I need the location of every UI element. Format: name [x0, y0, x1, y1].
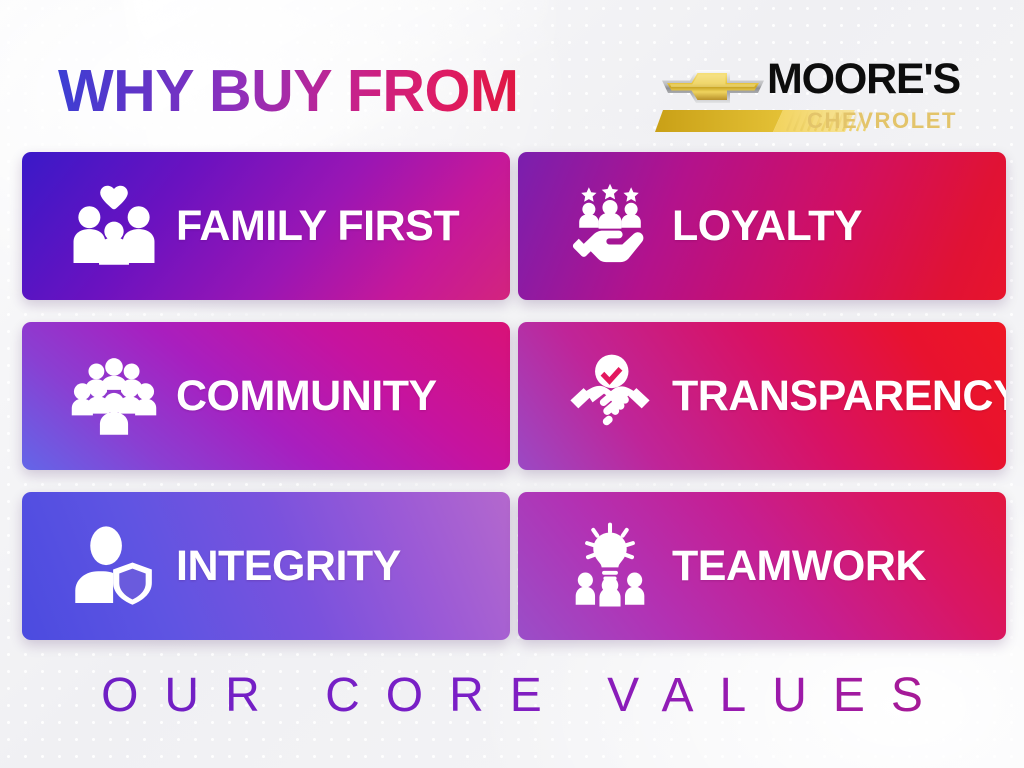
promo-graphic: WHY BUY FROM: [0, 0, 1024, 768]
family-heart-icon: [66, 178, 162, 274]
footer-tagline: OUR CORE VALUES: [75, 672, 949, 720]
chevrolet-bowtie-icon: [660, 64, 766, 108]
value-card-transparency[interactable]: TRANSPARENCY: [518, 322, 1006, 470]
footer: OUR CORE VALUES: [0, 672, 1024, 720]
value-card-loyalty[interactable]: LOYALTY: [518, 152, 1006, 300]
brand-name: MOORE'S: [767, 58, 960, 101]
crowd-of-people-icon: [66, 348, 162, 444]
value-card-family-first[interactable]: FAMILY FIRST: [22, 152, 510, 300]
dealership-logo: MOORE'S: [655, 58, 975, 144]
value-card-label: INTEGRITY: [176, 545, 401, 588]
handshake-check-icon: [562, 348, 658, 444]
value-card-label: TRANSPARENCY: [672, 375, 1006, 418]
value-card-label: COMMUNITY: [176, 375, 437, 418]
value-card-label: FAMILY FIRST: [176, 205, 459, 248]
page-title: WHY BUY FROM: [58, 62, 519, 121]
value-card-label: TEAMWORK: [672, 545, 926, 588]
card-row: INTEGRITY: [0, 492, 1024, 662]
person-shield-icon: [66, 518, 162, 614]
value-card-integrity[interactable]: INTEGRITY: [22, 492, 510, 640]
value-card-label: LOYALTY: [672, 205, 862, 248]
lightbulb-team-icon: [562, 518, 658, 614]
header: WHY BUY FROM: [0, 28, 1024, 138]
hand-holding-people-stars-icon: [562, 178, 658, 274]
brand-subtitle: CHEVROLET: [807, 110, 957, 132]
card-row: COMMUNITY: [0, 322, 1024, 492]
value-card-grid: FAMILY FIRST: [0, 152, 1024, 662]
value-card-community[interactable]: COMMUNITY: [22, 322, 510, 470]
card-row: FAMILY FIRST: [0, 152, 1024, 322]
value-card-teamwork[interactable]: TEAMWORK: [518, 492, 1006, 640]
